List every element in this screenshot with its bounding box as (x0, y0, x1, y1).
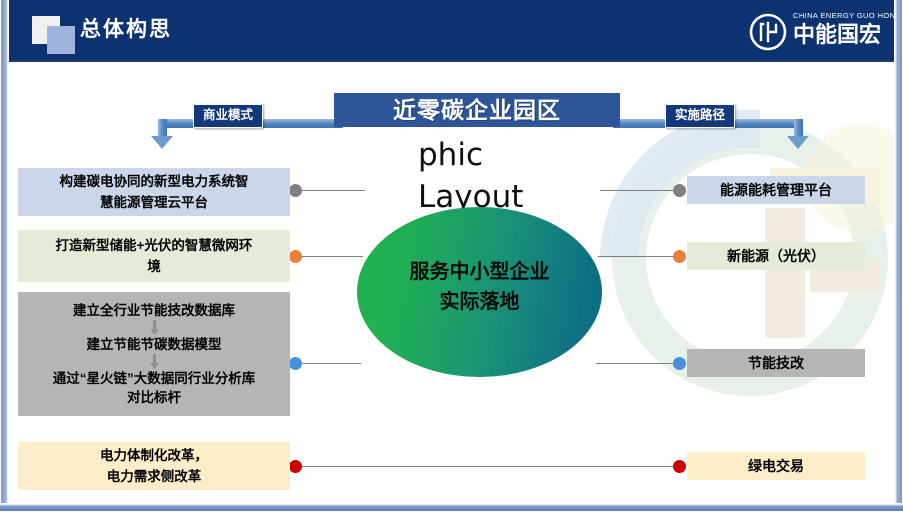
connector-line-left-1 (295, 190, 365, 191)
left-box-power-reform[interactable]: 电力体制化改革， 电力需求侧改革 (18, 442, 290, 490)
stack-line-3: 通过“星火链”大数据同行业分析库 对比标杆 (53, 369, 256, 407)
tag-implementation-path[interactable]: 实施路径 (665, 104, 735, 128)
center-ellipse: 服务中小型企业 实际落地 (357, 207, 602, 377)
center-ellipse-label: 服务中小型企业 实际落地 (357, 257, 602, 317)
connector-dot-left-4 (289, 460, 302, 473)
right-banner-arrowhead-icon (787, 136, 809, 149)
logo-chinese-text: 中能国宏 (793, 20, 881, 50)
tag-business-model[interactable]: 商业模式 (193, 104, 263, 128)
connector-dot-right-4 (673, 460, 686, 473)
slide-header: 总体构思 CHINA ENERGY GUO HONG 中能国宏 (0, 0, 903, 62)
slide-border-left (0, 0, 9, 512)
stack-arrow-down-icon-1 (148, 320, 161, 335)
left-box-smart-energy-platform[interactable]: 构建碳电协同的新型电力系统智 慧能源管理云平台 (18, 168, 290, 216)
right-box-new-energy-pv[interactable]: 新能源（光伏） (687, 242, 865, 270)
stack-arrow-down-icon-2 (148, 354, 161, 369)
header-square-blue-icon (47, 26, 75, 54)
slide-border-right (894, 0, 903, 512)
right-box-energy-management-platform[interactable]: 能源能耗管理平台 (687, 176, 865, 204)
left-box-storage-microgrid[interactable]: 打造新型储能+光伏的智慧微网环 境 (18, 230, 290, 282)
connector-dot-right-1 (673, 184, 686, 197)
left-box-energy-saving-stack[interactable]: 建立全行业节能技改数据库 建立节能节碳数据模型 通过“星火链”大数据同行业分析库… (18, 292, 290, 416)
company-logo: CHINA ENERGY GUO HONG 中能国宏 (749, 8, 889, 54)
connector-line-left-4 (295, 466, 685, 467)
connector-line-right-2 (598, 256, 685, 257)
logo-emblem-icon (749, 13, 787, 51)
connector-dot-left-1 (289, 184, 302, 197)
connector-dot-left-2 (289, 250, 302, 263)
stray-overlay-text: phic Layout (418, 134, 523, 218)
connector-line-left-2 (295, 256, 363, 257)
connector-dot-left-3 (289, 357, 302, 370)
connector-dot-right-2 (673, 250, 686, 263)
stack-line-1: 建立全行业节能技改数据库 (73, 301, 235, 320)
connector-dot-right-3 (673, 357, 686, 370)
right-box-green-power-trading[interactable]: 绿电交易 (687, 452, 865, 480)
left-banner-arrowhead-icon (151, 136, 173, 149)
slide-border-bottom (0, 503, 903, 512)
connector-line-right-3 (596, 363, 685, 364)
slide-canvas: 总体构思 CHINA ENERGY GUO HONG 中能国宏 商业模式 实施路… (0, 0, 903, 512)
center-title: 近零碳企业园区 (334, 93, 620, 127)
right-box-energy-saving-retrofit[interactable]: 节能技改 (687, 349, 865, 377)
left-banner-stem (158, 119, 167, 137)
right-banner-stem (794, 119, 803, 137)
stack-line-2: 建立节能节碳数据模型 (87, 335, 222, 354)
connector-line-left-3 (295, 363, 361, 364)
page-title: 总体构思 (80, 14, 172, 46)
logo-english-text: CHINA ENERGY GUO HONG (793, 11, 902, 20)
